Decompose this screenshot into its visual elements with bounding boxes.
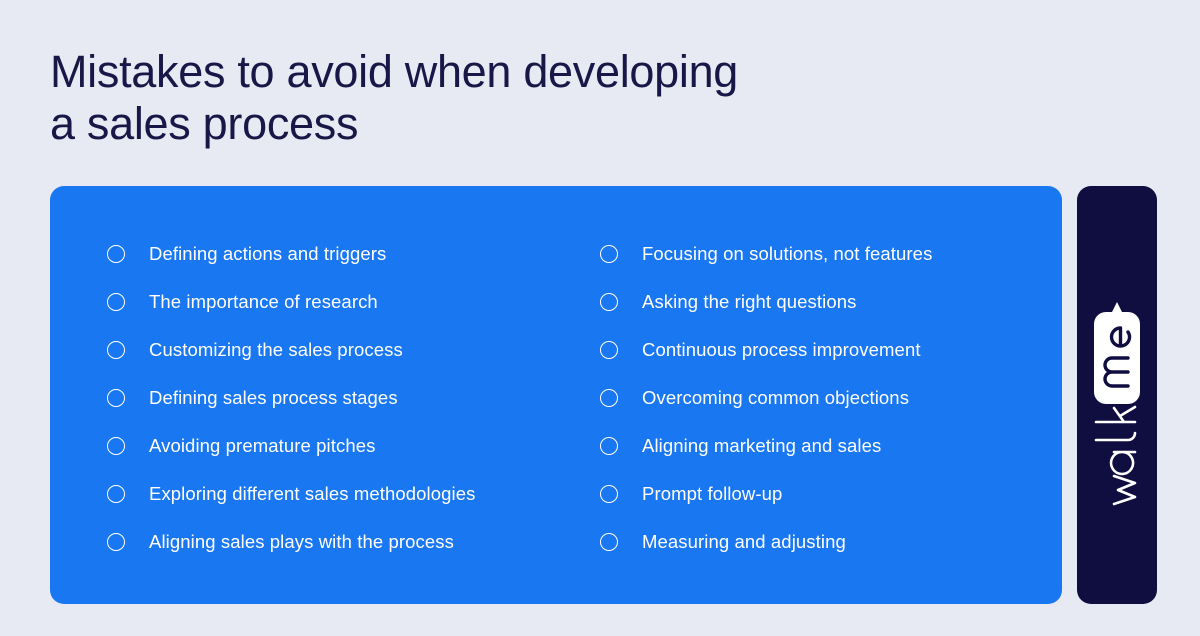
walkme-logo-bubble: [1094, 302, 1140, 404]
topics-panel: Defining actions and triggers The import…: [50, 186, 1062, 604]
list-item[interactable]: Aligning marketing and sales: [600, 422, 1062, 470]
list-item[interactable]: Defining actions and triggers: [107, 230, 600, 278]
list-item[interactable]: Customizing the sales process: [107, 326, 600, 374]
circle-outline-icon: [600, 485, 618, 503]
circle-outline-icon: [600, 533, 618, 551]
circle-outline-icon: [600, 293, 618, 311]
list-item-label: Defining sales process stages: [149, 386, 398, 410]
walkme-logo-walk-text: [1096, 407, 1135, 504]
walkme-logo: [1086, 280, 1148, 510]
circle-outline-icon: [600, 437, 618, 455]
list-item[interactable]: Overcoming common objections: [600, 374, 1062, 422]
list-item-label: Aligning sales plays with the process: [149, 530, 454, 554]
list-item-label: The importance of research: [149, 290, 378, 314]
circle-outline-icon: [107, 533, 125, 551]
list-item-label: Exploring different sales methodologies: [149, 482, 475, 506]
circle-outline-icon: [107, 485, 125, 503]
circle-outline-icon: [107, 437, 125, 455]
circle-outline-icon: [107, 341, 125, 359]
list-item[interactable]: Focusing on solutions, not features: [600, 230, 1062, 278]
list-item-label: Overcoming common objections: [642, 386, 909, 410]
list-item[interactable]: Asking the right questions: [600, 278, 1062, 326]
circle-outline-icon: [107, 245, 125, 263]
list-item[interactable]: Continuous process improvement: [600, 326, 1062, 374]
list-item-label: Avoiding premature pitches: [149, 434, 375, 458]
page-title: Mistakes to avoid when developing a sale…: [50, 46, 950, 150]
list-item-label: Customizing the sales process: [149, 338, 403, 362]
circle-outline-icon: [600, 341, 618, 359]
topics-column-left: Defining actions and triggers The import…: [50, 186, 600, 604]
list-item-label: Measuring and adjusting: [642, 530, 846, 554]
list-item[interactable]: Exploring different sales methodologies: [107, 470, 600, 518]
list-item[interactable]: Defining sales process stages: [107, 374, 600, 422]
circle-outline-icon: [600, 389, 618, 407]
list-item[interactable]: Aligning sales plays with the process: [107, 518, 600, 566]
list-item[interactable]: Avoiding premature pitches: [107, 422, 600, 470]
topics-column-right: Focusing on solutions, not features Aski…: [600, 186, 1062, 604]
circle-outline-icon: [107, 389, 125, 407]
circle-outline-icon: [600, 245, 618, 263]
list-item[interactable]: The importance of research: [107, 278, 600, 326]
brand-panel: [1077, 186, 1157, 604]
list-item-label: Focusing on solutions, not features: [642, 242, 932, 266]
list-item[interactable]: Prompt follow-up: [600, 470, 1062, 518]
topics-columns: Defining actions and triggers The import…: [50, 186, 1062, 604]
list-item-label: Defining actions and triggers: [149, 242, 386, 266]
circle-outline-icon: [107, 293, 125, 311]
list-item-label: Continuous process improvement: [642, 338, 921, 362]
list-item[interactable]: Measuring and adjusting: [600, 518, 1062, 566]
list-item-label: Asking the right questions: [642, 290, 856, 314]
list-item-label: Prompt follow-up: [642, 482, 782, 506]
list-item-label: Aligning marketing and sales: [642, 434, 881, 458]
